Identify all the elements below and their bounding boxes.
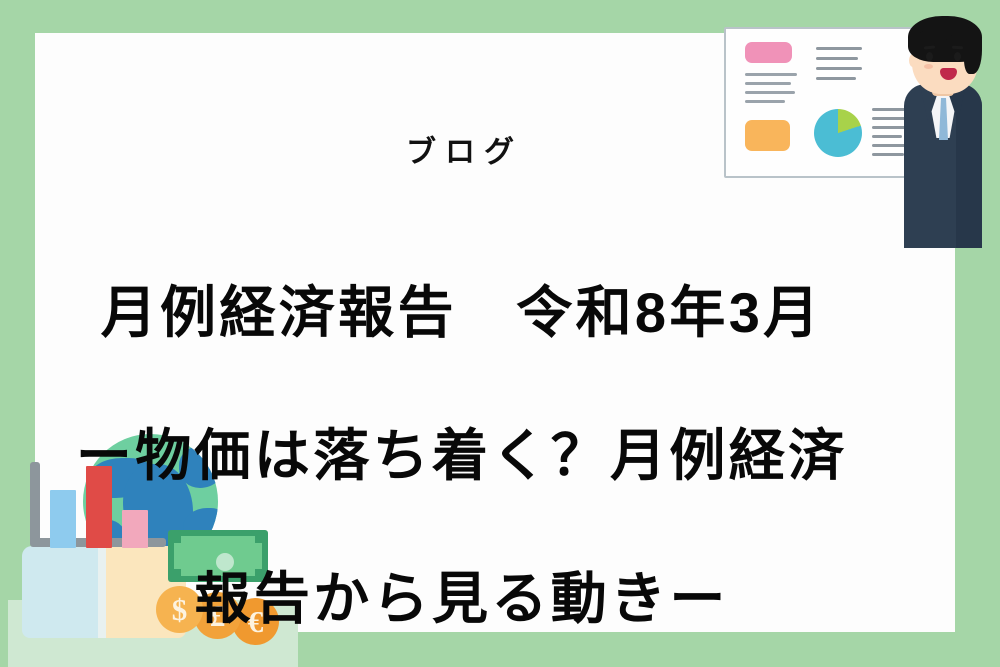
title-line-3: 報告から見る動きー	[0, 563, 920, 635]
page-title: 月例経済報告 令和8年3月 ー物価は落ち着く？月例経済 報告から見る動きー	[0, 205, 920, 667]
placeholder-text-line	[745, 91, 795, 94]
eye-right	[954, 52, 961, 61]
placeholder-text-line	[745, 82, 791, 85]
placeholder-text-line	[816, 77, 856, 80]
eye-left	[926, 52, 933, 61]
thumbnail-canvas: ブログ 月例経済報告 令和8年3月 ー物価は落ち着く？月例経済 報告から見る動き…	[0, 0, 1000, 667]
placeholder-text-line	[745, 100, 785, 103]
whiteboard-pink-block	[745, 42, 792, 63]
cheek-blush	[924, 64, 933, 69]
title-line-1: 月例経済報告 令和8年3月	[0, 277, 920, 349]
hair-side	[964, 26, 982, 74]
placeholder-text-line	[816, 47, 862, 50]
placeholder-text-line	[816, 57, 858, 60]
placeholder-text-line	[745, 73, 797, 76]
placeholder-text-line	[816, 67, 862, 70]
category-label: ブログ	[0, 138, 920, 168]
title-line-2: ー物価は落ち着く？月例経済	[0, 420, 920, 492]
